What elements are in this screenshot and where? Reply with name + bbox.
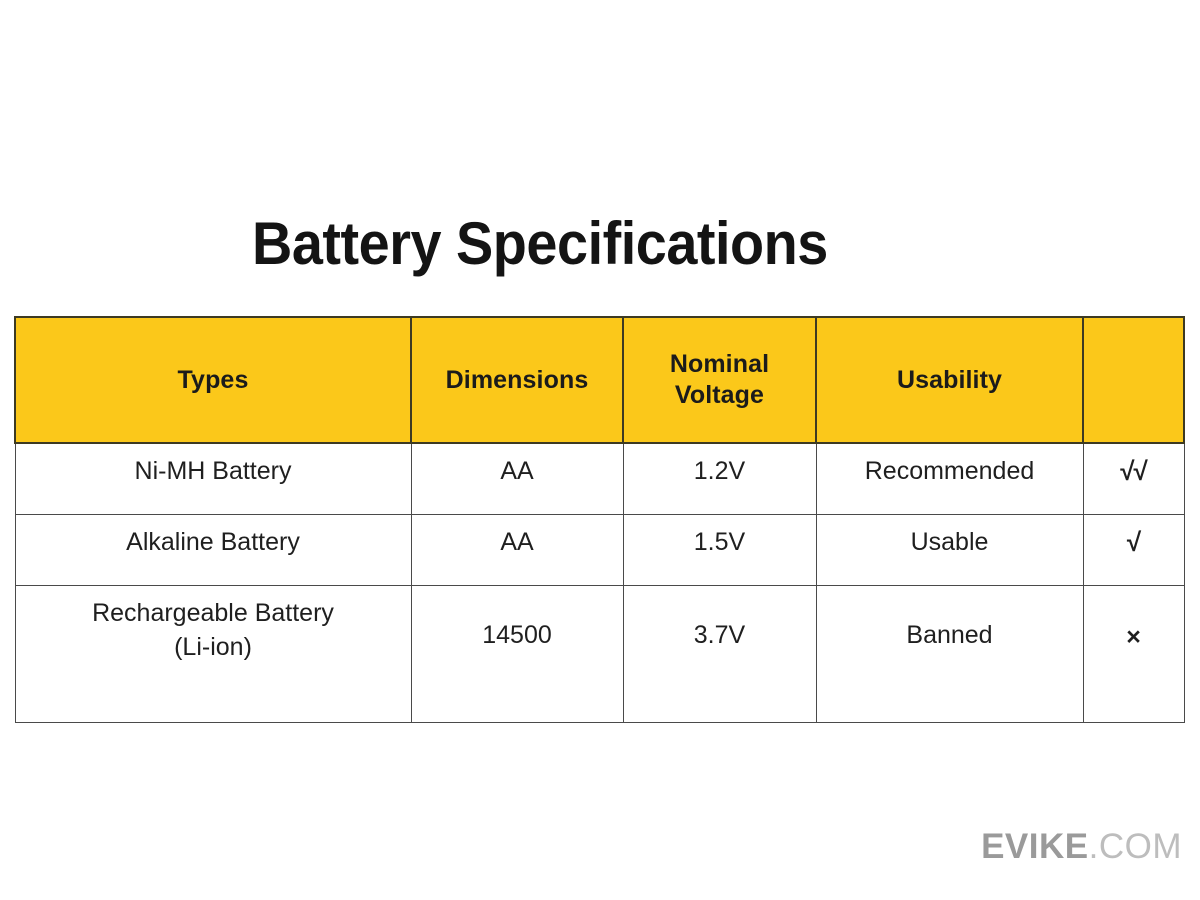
cell-usability: Recommended: [816, 443, 1083, 515]
watermark-brand: EVIKE: [981, 827, 1089, 866]
cell-types-value: Ni-MH Battery: [16, 444, 411, 488]
cell-nominal-voltage: 1.5V: [623, 515, 816, 586]
cell-usability: Banned: [816, 586, 1083, 723]
cell-usability: Usable: [816, 515, 1083, 586]
cell-dimensions-value: AA: [412, 515, 623, 559]
column-header-types: Types: [15, 317, 411, 443]
cell-nominal-voltage: 1.2V: [623, 443, 816, 515]
column-header-nominal-voltage-label: Nominal Voltage: [670, 349, 769, 411]
table-row: Ni-MH Battery AA 1.2V Recommended √√: [15, 443, 1184, 515]
column-header-dimensions: Dimensions: [411, 317, 623, 443]
watermark-tld: .COM: [1089, 827, 1182, 866]
cell-nominal-voltage-value: 3.7V: [624, 586, 816, 652]
column-header-rating: [1083, 317, 1184, 443]
table-row: Rechargeable Battery (Li-ion) 14500 3.7V…: [15, 586, 1184, 723]
page-title: Battery Specifications: [252, 208, 903, 280]
battery-spec-table-container: Types Dimensions Nominal Voltage Usabili…: [14, 316, 1183, 723]
cell-dimensions-value: AA: [412, 444, 623, 488]
cell-usability-value: Usable: [817, 515, 1083, 559]
cell-nominal-voltage-value: 1.2V: [624, 444, 816, 488]
table-row: Alkaline Battery AA 1.5V Usable √: [15, 515, 1184, 586]
cell-dimensions: AA: [411, 515, 623, 586]
cell-rating: √√: [1083, 443, 1184, 515]
cell-rating: √: [1083, 515, 1184, 586]
cell-dimensions: AA: [411, 443, 623, 515]
double-check-icon: √√: [1084, 444, 1184, 488]
battery-spec-table: Types Dimensions Nominal Voltage Usabili…: [14, 316, 1185, 723]
cell-types-value: Rechargeable Battery (Li-ion): [16, 586, 411, 664]
column-header-dimensions-label: Dimensions: [446, 365, 589, 396]
check-icon: √: [1084, 515, 1184, 559]
cell-usability-value: Banned: [817, 586, 1083, 652]
cell-types: Alkaline Battery: [15, 515, 411, 586]
column-header-types-label: Types: [178, 365, 249, 396]
column-header-nominal-voltage: Nominal Voltage: [623, 317, 816, 443]
cell-rating: ×: [1083, 586, 1184, 723]
cell-dimensions-value: 14500: [412, 586, 623, 652]
cell-usability-value: Recommended: [817, 444, 1083, 488]
cell-types-value: Alkaline Battery: [16, 515, 411, 559]
cross-icon: ×: [1084, 586, 1184, 654]
cell-nominal-voltage-value: 1.5V: [624, 515, 816, 559]
column-header-usability-label: Usability: [897, 365, 1002, 396]
table-header-row: Types Dimensions Nominal Voltage Usabili…: [15, 317, 1184, 443]
cell-types: Rechargeable Battery (Li-ion): [15, 586, 411, 723]
cell-nominal-voltage: 3.7V: [623, 586, 816, 723]
column-header-usability: Usability: [816, 317, 1083, 443]
evike-watermark: EVIKE.COM: [981, 827, 1182, 867]
cell-dimensions: 14500: [411, 586, 623, 723]
cell-types: Ni-MH Battery: [15, 443, 411, 515]
